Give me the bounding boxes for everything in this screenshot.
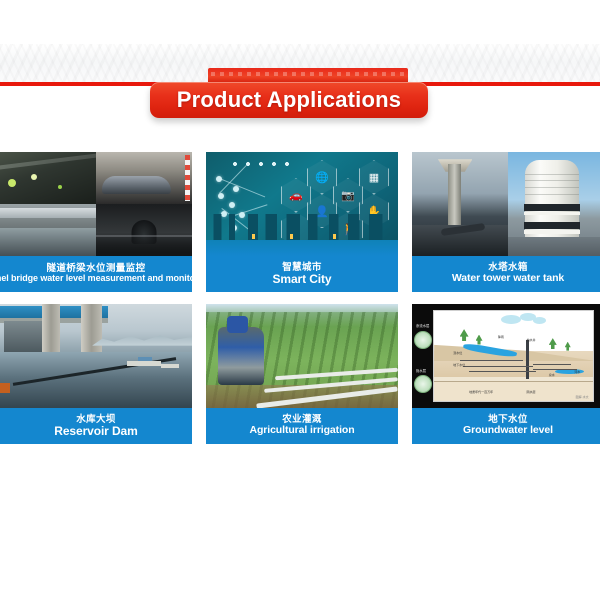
reservoir-dam-image [0,304,192,408]
skyline-light [252,234,255,239]
panel-caption: 隧道桥梁水位测量监控 Tunnel bridge water level mea… [0,256,192,292]
pumping-well-shaft [526,340,529,379]
tank-dark-band [524,204,580,211]
panel-reservoir-dam[interactable]: 水库大坝 Reservoir Dam [0,304,192,444]
diagram-label-river: 河水 [574,370,580,374]
diagram-credit: 图解·水文 [576,395,589,399]
caption-en: Groundwater level [463,425,553,436]
tree-icon [565,342,571,351]
field-horizon [206,304,398,312]
application-grid: 隧道桥梁水位测量监控 Tunnel bridge water level mea… [0,152,600,444]
panel-smart-city[interactable]: 🚗 🌐 📷 ▦ ⚙ 👤 🚶 ✋ [206,152,398,292]
title-ribbon-top [208,68,408,83]
panel-caption: 农业灌溉 Agricultural irrigation [206,408,398,444]
page-root: Product Applications 隧道桥梁水位测量监控 Tunnel b… [0,0,600,600]
irrigation-pump-unit [218,327,264,385]
tunnel-quadrant-interior [96,204,192,256]
orange-marker [0,383,10,393]
page-title: Product Applications [177,87,401,113]
panel-agricultural-irrigation[interactable]: 农业灌溉 Agricultural irrigation [206,304,398,444]
panel-caption: 水塔水箱 Water tower water tank [412,256,600,292]
tank-dark-band [524,222,580,229]
work-boat [138,357,151,361]
panel-caption: 智慧城市 Smart City [206,256,398,292]
pump-motor-head [227,316,248,333]
soil-zoom-circle [414,375,432,393]
qrcode-icon: ▦ [359,160,389,194]
rain-cloud-icon [533,317,546,324]
crop-field-scene [206,304,398,408]
water-tower-split-photo [412,152,600,256]
tunnel-quadrant-construction [0,152,96,204]
car-icon: 🚗 [281,178,311,212]
skyline-light [290,234,293,239]
panel-tunnel-bridge[interactable]: 隧道桥梁水位测量监控 Tunnel bridge water level mea… [0,152,192,292]
globe-icon: 🌐 [307,160,337,194]
diagram-label-aquiclude: 隔水层 [526,390,535,394]
floating-platform [161,364,178,368]
groundwater-diagram-image: 渗流水层 饱水层 [412,304,600,408]
diagram-label-rainfall: 降雨 [498,335,504,339]
tank-ground [508,237,600,256]
panel-caption: 地下水位 Groundwater level [412,408,600,444]
diagram-label-spring: 泉水 [549,373,555,377]
diagram-label-saturated-layer: 饱水层 [416,368,426,373]
diagram-label-water-table: 潜水位 [453,351,462,355]
tree-icon [476,335,483,345]
diagram-canvas: 降雨 抽水井 潜水位 地下水位 地质年代一百万年 隔水层 泉水 河水 图解·水文 [433,310,594,402]
caption-en: Water tower water tank [452,273,564,284]
page-header: Product Applications [0,0,600,152]
image-icon: 📷 [333,178,363,212]
smart-city-image: 🚗 🌐 📷 ▦ ⚙ 👤 🚶 ✋ [206,152,398,256]
diagram-label-upper-layer: 渗流水层 [416,323,430,328]
diagram-label-well: 抽水井 [526,338,535,342]
tunnel-quadrant-flooded-road [0,204,96,256]
caption-en: Agricultural irrigation [249,425,354,436]
tunnel-collage-image [0,152,192,256]
groundwater-diagram: 渗流水层 饱水层 [412,304,600,408]
tank-light-band [524,212,580,215]
tree-icon [549,338,557,349]
dam-scene [0,304,192,408]
caption-en: Tunnel bridge water level measurement an… [0,274,192,284]
agricultural-irrigation-image [206,304,398,408]
floating-platform [127,361,162,366]
city-skyline-silhouette [206,214,398,241]
page-title-banner: Product Applications [150,82,428,118]
water-tower-image [412,152,600,256]
smart-city-background: 🚗 🌐 📷 ▦ ⚙ 👤 🚶 ✋ [206,152,398,256]
panel-groundwater-level[interactable]: 渗流水层 饱水层 [412,304,600,444]
soil-zoom-circle [414,331,432,349]
diagram-label-groundwater: 地下水位 [453,363,465,367]
caption-en: Smart City [272,273,331,286]
white-storage-tank [525,160,579,243]
skyline-light [333,234,336,239]
tunnel-quadrant-car-entrance [96,152,192,204]
caption-en: Reservoir Dam [54,425,137,438]
tree-icon [460,329,469,341]
water-tank-right-photo [508,152,600,256]
city-base-strip [206,240,398,256]
tower-column [448,164,460,228]
distant-hills [92,331,192,346]
impermeable-layer [434,381,593,401]
panel-water-tower[interactable]: 水塔水箱 Water tower water tank [412,152,600,292]
water-tower-left-photo [412,152,508,256]
rain-cloud-icon [501,315,521,324]
panel-caption: 水库大坝 Reservoir Dam [0,408,192,444]
tank-light-band [524,230,580,233]
diagram-label-age: 地质年代一百万年 [469,390,493,394]
